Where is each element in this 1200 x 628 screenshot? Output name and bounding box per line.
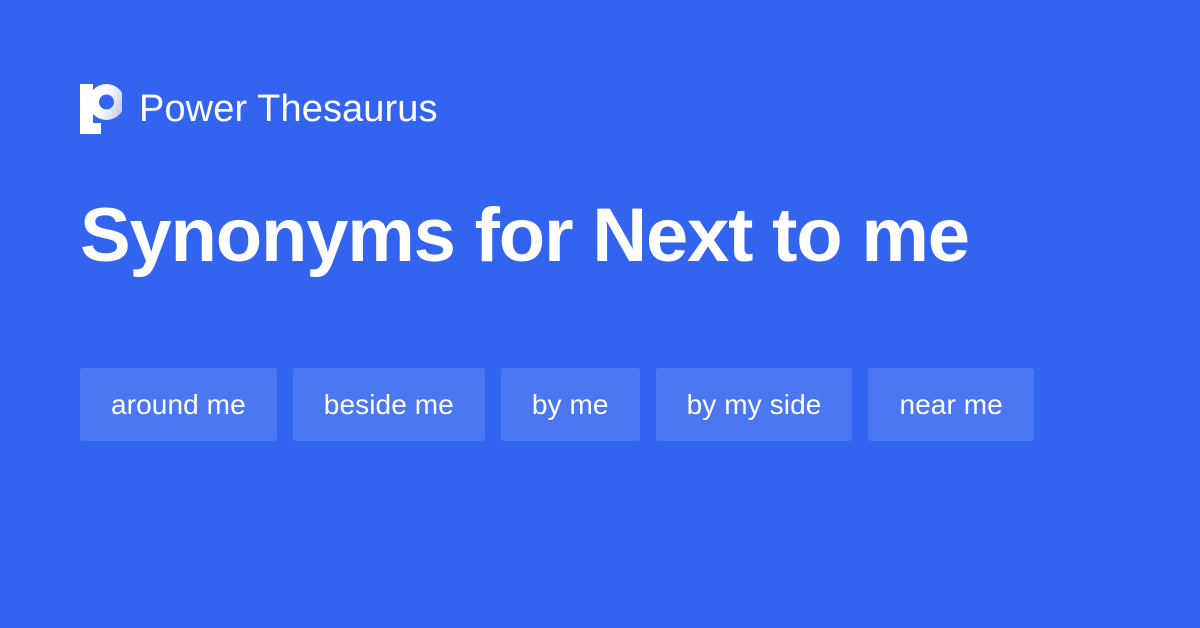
- synonym-chip[interactable]: by me: [501, 368, 640, 441]
- brand-name: Power Thesaurus: [139, 90, 438, 128]
- synonym-chip[interactable]: beside me: [293, 368, 485, 441]
- power-thesaurus-b-logo-icon: [80, 84, 122, 134]
- synonym-chip[interactable]: near me: [868, 368, 1033, 441]
- page-title: Synonyms for Next to me: [80, 198, 1140, 274]
- synonym-chip-list: around me beside me by me by my side nea…: [80, 368, 1080, 441]
- synonyms-share-card: Power Thesaurus Synonyms for Next to me …: [0, 0, 1200, 628]
- synonym-chip[interactable]: around me: [80, 368, 277, 441]
- brand-lockup[interactable]: Power Thesaurus: [80, 84, 438, 134]
- synonym-chip[interactable]: by my side: [656, 368, 853, 441]
